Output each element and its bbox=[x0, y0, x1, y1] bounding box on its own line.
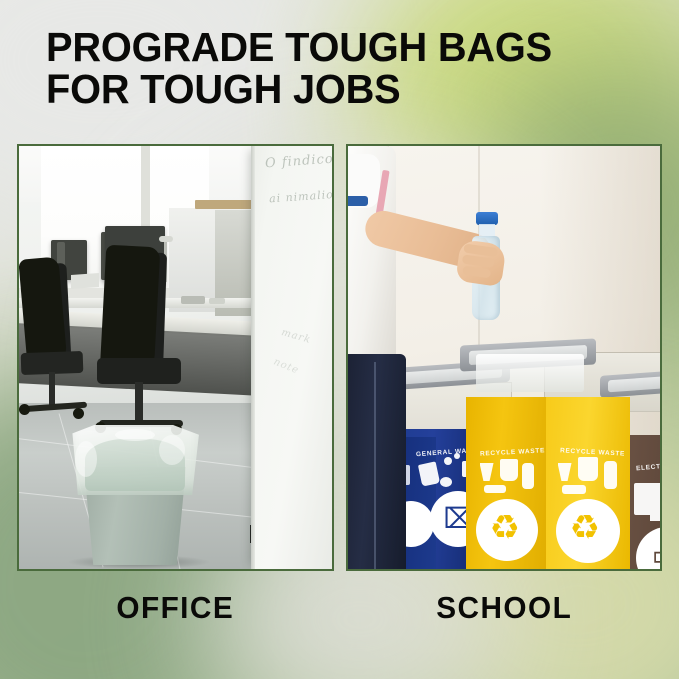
whiteboard-scrawl-2: ai nimaliof bbox=[268, 188, 333, 206]
student-wristband bbox=[348, 196, 368, 206]
trash-bag-fold bbox=[75, 441, 97, 477]
recycle-glyph-icon: ♻ bbox=[490, 511, 520, 545]
chair-caster-icon bbox=[19, 404, 30, 415]
office-panel: O findico ai nimaliof mark note bbox=[17, 144, 334, 571]
whiteboard-scrawl-3: mark bbox=[280, 327, 312, 346]
waste-cup-icon bbox=[417, 461, 439, 486]
bin-label-recycle-a: RECYCLE WASTE bbox=[479, 447, 544, 457]
page-title: PROGRADE TOUGH BAGS FOR TOUGH JOBS bbox=[46, 26, 628, 110]
recycle-can-icon bbox=[484, 485, 506, 493]
school-bin-recycle-a[interactable]: RECYCLE WASTE ♻ bbox=[466, 397, 548, 569]
bin-label-electronics: ELECTRONICS bbox=[635, 461, 662, 473]
trash-bag-fold bbox=[159, 435, 185, 465]
student-torso bbox=[348, 146, 396, 360]
office-cubicle-trim bbox=[195, 200, 259, 209]
caption-row: OFFICE SCHOOL bbox=[17, 590, 662, 626]
chair-seat bbox=[97, 358, 181, 384]
trash-bag-fold bbox=[115, 429, 155, 441]
office-desk-papers bbox=[71, 273, 99, 289]
waste-dot-icon bbox=[444, 457, 452, 465]
recycle-cup-icon bbox=[500, 459, 518, 481]
recycle-bottle-icon bbox=[522, 463, 534, 489]
finger-icon bbox=[462, 266, 491, 279]
waste-dot-icon bbox=[454, 453, 460, 459]
recycle-can-icon bbox=[562, 485, 586, 494]
office-trash-bag-liner bbox=[67, 425, 203, 495]
office-whiteboard: O findico ai nimaliof mark note bbox=[251, 146, 332, 569]
school-bin-liner-bag bbox=[476, 354, 584, 392]
office-scene: O findico ai nimaliof mark note bbox=[19, 146, 332, 569]
caption-school: SCHOOL bbox=[352, 590, 656, 626]
panel-row: O findico ai nimaliof mark note bbox=[17, 144, 662, 571]
waste-blob-icon bbox=[440, 477, 452, 487]
office-jacket-center bbox=[100, 245, 161, 376]
whiteboard-edge bbox=[251, 146, 255, 569]
monitor-stand-icon bbox=[650, 515, 660, 521]
whiteboard-scrawl-1: O findico bbox=[264, 152, 333, 172]
caption-office: OFFICE bbox=[23, 590, 327, 626]
school-panel: ELECTRONICS ▭ GENERAL WASTE ⌧ bbox=[346, 144, 663, 571]
electronics-glyph-icon: ▭ bbox=[652, 541, 663, 571]
recycle-glyph-icon: ♻ bbox=[570, 511, 600, 545]
whiteboard-scrawl-4: note bbox=[271, 356, 300, 376]
monitor-icon bbox=[634, 483, 663, 515]
recycle-glass-icon bbox=[558, 463, 572, 481]
student-jeans-seam bbox=[374, 362, 376, 569]
student-jeans bbox=[348, 354, 406, 569]
chair-caster-icon bbox=[73, 408, 84, 419]
recycle-bottle-icon bbox=[604, 461, 617, 489]
bin-lid-inner bbox=[608, 374, 663, 393]
school-bin-recycle-b[interactable]: RECYCLE WASTE ♻ bbox=[546, 397, 630, 569]
office-desk-item-1 bbox=[181, 296, 205, 304]
recycle-cup-icon bbox=[578, 457, 598, 481]
chair-post bbox=[49, 372, 55, 408]
school-scene: ELECTRONICS ▭ GENERAL WASTE ⌧ bbox=[348, 146, 661, 569]
office-desk-item-2 bbox=[209, 298, 225, 304]
recycle-glass-icon bbox=[480, 463, 494, 481]
